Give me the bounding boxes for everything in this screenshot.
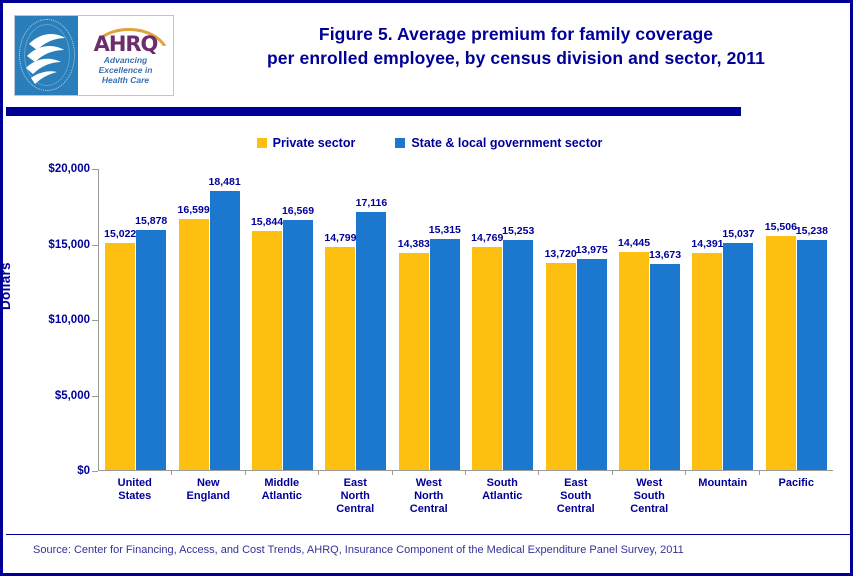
- hhs-seal-icon: [15, 16, 78, 95]
- bar-private[interactable]: 14,769: [472, 247, 502, 470]
- x-axis-label: WestSouthCentral: [613, 477, 687, 529]
- plot-area: 15,02215,87816,59918,48115,84416,56914,7…: [98, 169, 833, 471]
- x-axis-label: SouthAtlantic: [466, 477, 540, 529]
- bar-private[interactable]: 13,720: [546, 263, 576, 470]
- bar-value-label: 15,022: [104, 228, 136, 240]
- bar-groups: 15,02215,87816,59918,48115,84416,56914,7…: [99, 169, 833, 470]
- bar-group: 14,79917,116: [319, 169, 392, 470]
- x-axis-label-line: Pacific: [760, 477, 834, 490]
- x-axis-label-line: North: [392, 490, 466, 503]
- bar-value-label: 14,445: [618, 237, 650, 249]
- legend-label: State & local government sector: [411, 136, 602, 150]
- bar-group: 14,39115,037: [686, 169, 759, 470]
- bar-value-label: 16,569: [282, 205, 314, 217]
- bar-group: 16,59918,481: [172, 169, 245, 470]
- bar-value-label: 13,720: [545, 248, 577, 260]
- figure-page: AHRQ Advancing Excellence in Health Care…: [0, 0, 853, 576]
- ahrq-tagline: Advancing Excellence in Health Care: [99, 55, 153, 85]
- chart-legend: Private sectorState & local government s…: [6, 136, 853, 150]
- bar-value-label: 14,383: [398, 238, 430, 250]
- ahrq-tagline-line3: Health Care: [99, 75, 153, 85]
- x-axis-label-line: New: [172, 477, 246, 490]
- ahrq-tagline-line2: Excellence in: [99, 65, 153, 75]
- figure-title-line2: per enrolled employee, by census divisio…: [196, 46, 836, 70]
- legend-swatch-icon: [395, 138, 405, 148]
- bar-private[interactable]: 15,844: [252, 231, 282, 470]
- ahrq-acronym: AHRQ: [83, 32, 169, 56]
- bar-public[interactable]: 15,037: [723, 243, 753, 470]
- bar-public[interactable]: 15,878: [136, 230, 166, 470]
- figure-title-line1: Figure 5. Average premium for family cov…: [196, 22, 836, 46]
- bar-public[interactable]: 15,238: [797, 240, 827, 470]
- x-axis-label-line: Central: [319, 503, 393, 516]
- x-axis-label-line: United: [98, 477, 172, 490]
- bar-public[interactable]: 18,481: [210, 191, 240, 470]
- legend-item-public: State & local government sector: [395, 136, 602, 150]
- x-axis-label-line: Atlantic: [245, 490, 319, 503]
- bar-value-label: 15,878: [135, 215, 167, 227]
- bar-value-label: 15,253: [502, 225, 534, 237]
- bar-group: 15,84416,569: [246, 169, 319, 470]
- bar-value-label: 13,975: [576, 244, 608, 256]
- x-axis-label: UnitedStates: [98, 477, 172, 529]
- x-axis-label-line: Middle: [245, 477, 319, 490]
- x-axis-tick-mark: [612, 470, 613, 475]
- bar-private[interactable]: 14,799: [325, 247, 355, 470]
- bar-value-label: 15,506: [765, 221, 797, 233]
- header-divider-bar: [6, 107, 741, 116]
- hhs-bird-icon: [21, 22, 71, 88]
- x-axis-tick-mark: [318, 470, 319, 475]
- x-axis-label: EastNorthCentral: [319, 477, 393, 529]
- x-axis-label-line: East: [539, 477, 613, 490]
- x-axis-tick-mark: [685, 470, 686, 475]
- bar-value-label: 15,037: [722, 228, 754, 240]
- y-axis-tick-label: $20,000: [48, 163, 90, 175]
- bar-value-label: 15,238: [796, 225, 828, 237]
- bar-value-label: 13,673: [649, 249, 681, 261]
- bar-private[interactable]: 14,391: [692, 253, 722, 470]
- x-axis-tick-mark: [245, 470, 246, 475]
- bar-value-label: 15,315: [429, 224, 461, 236]
- x-axis-label: Pacific: [760, 477, 834, 529]
- bar-group: 14,76915,253: [466, 169, 539, 470]
- bar-value-label: 14,391: [691, 238, 723, 250]
- bar-group: 13,72013,975: [539, 169, 612, 470]
- footer-divider: [6, 534, 853, 535]
- ahrq-wordmark: AHRQ Advancing Excellence in Health Care: [78, 16, 173, 95]
- bar-value-label: 14,769: [471, 232, 503, 244]
- legend-swatch-icon: [257, 138, 267, 148]
- bar-value-label: 17,116: [356, 197, 388, 209]
- ahrq-tagline-line1: Advancing: [99, 55, 153, 65]
- x-axis-label-line: West: [392, 477, 466, 490]
- bar-public[interactable]: 17,116: [356, 212, 386, 470]
- bar-public[interactable]: 16,569: [283, 220, 313, 470]
- x-axis-label: Mountain: [686, 477, 760, 529]
- x-axis-tick-mark: [465, 470, 466, 475]
- bar-private[interactable]: 16,599: [179, 219, 209, 470]
- x-axis-label-line: Atlantic: [466, 490, 540, 503]
- x-axis-tick-mark: [759, 470, 760, 475]
- x-axis-label-line: South: [613, 490, 687, 503]
- x-axis-label-line: Mountain: [686, 477, 760, 490]
- x-axis-label-line: South: [466, 477, 540, 490]
- bar-value-label: 14,799: [324, 232, 356, 244]
- bar-private[interactable]: 15,506: [766, 236, 796, 470]
- x-axis-tick-mark: [392, 470, 393, 475]
- x-axis-label: MiddleAtlantic: [245, 477, 319, 529]
- y-axis-tick-mark: [92, 471, 98, 472]
- bar-value-label: 15,844: [251, 216, 283, 228]
- x-axis-label: NewEngland: [172, 477, 246, 529]
- y-axis-tick-label: $10,000: [48, 314, 90, 326]
- x-axis-label-line: North: [319, 490, 393, 503]
- x-axis-tick-mark: [538, 470, 539, 475]
- x-axis-tick-mark: [171, 470, 172, 475]
- x-axis-label-line: East: [319, 477, 393, 490]
- x-axis-label-line: Central: [392, 503, 466, 516]
- page-header: AHRQ Advancing Excellence in Health Care…: [6, 6, 853, 100]
- y-axis-ticks: $0$5,000$10,000$15,000$20,000: [6, 169, 98, 471]
- x-axis-label: WestNorthCentral: [392, 477, 466, 529]
- bar-group: 15,02215,878: [99, 169, 172, 470]
- x-axis-label-line: South: [539, 490, 613, 503]
- x-axis-label-line: England: [172, 490, 246, 503]
- bar-private[interactable]: 15,022: [105, 243, 135, 470]
- bar-public[interactable]: 15,253: [503, 240, 533, 470]
- y-axis-tick-label: $15,000: [48, 239, 90, 251]
- x-axis-label: EastSouthCentral: [539, 477, 613, 529]
- bar-value-label: 16,599: [178, 204, 210, 216]
- x-axis-label-line: Central: [613, 503, 687, 516]
- ahrq-acronym-wrap: AHRQ: [83, 28, 169, 54]
- bar-private[interactable]: 14,383: [399, 253, 429, 470]
- bar-public[interactable]: 13,673: [650, 264, 680, 470]
- ahrq-logo: AHRQ Advancing Excellence in Health Care: [14, 15, 174, 96]
- y-axis-tick-label: $5,000: [55, 390, 90, 402]
- figure-title: Figure 5. Average premium for family cov…: [196, 22, 836, 70]
- bar-group: 15,50615,238: [760, 169, 833, 470]
- bar-group: 14,38315,315: [393, 169, 466, 470]
- x-axis-label-line: West: [613, 477, 687, 490]
- bar-public[interactable]: 15,315: [430, 239, 460, 470]
- x-axis-label-line: Central: [539, 503, 613, 516]
- bar-public[interactable]: 13,975: [577, 259, 607, 470]
- x-axis-labels: UnitedStatesNewEnglandMiddleAtlanticEast…: [98, 477, 833, 529]
- bar-group: 14,44513,673: [613, 169, 686, 470]
- bar-private[interactable]: 14,445: [619, 252, 649, 470]
- bar-value-label: 18,481: [209, 176, 241, 188]
- source-note: Source: Center for Financing, Access, an…: [33, 544, 833, 556]
- x-axis-label-line: States: [98, 490, 172, 503]
- legend-label: Private sector: [273, 136, 356, 150]
- chart: Private sectorState & local government s…: [6, 120, 853, 533]
- y-axis-tick-label: $0: [77, 465, 90, 477]
- legend-item-private: Private sector: [257, 136, 356, 150]
